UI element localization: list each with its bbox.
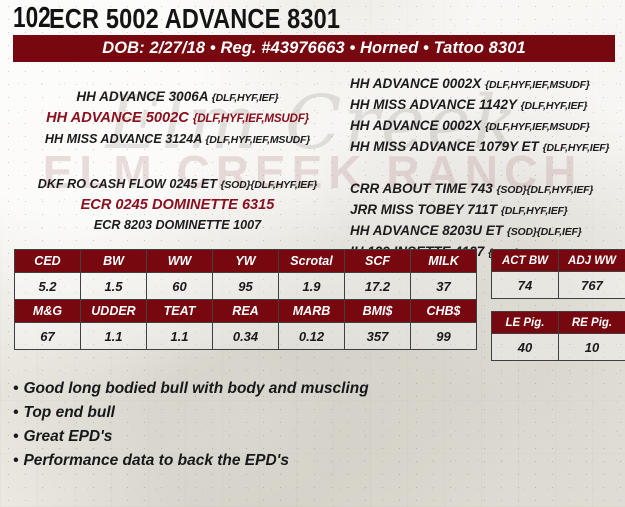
maternal-great-grandparents: CRR ABOUT TIME 743 {SOD}{DLF,HYF,IEF} JR… bbox=[350, 158, 625, 263]
list-item-label: Top end bull bbox=[23, 404, 115, 421]
bullet-marker-icon: • bbox=[13, 425, 18, 449]
ancestor-name: HH ADVANCE 0002X bbox=[350, 76, 481, 91]
bullet-marker-icon: • bbox=[13, 449, 18, 473]
epd-header-cell: CED bbox=[15, 250, 81, 273]
pedigree-ancestor-line: HH ADVANCE 0002X {DLF,HYF,IEF,MSUDF} bbox=[350, 116, 625, 137]
ancestor-tag: {DLF,HYF,IEF} bbox=[501, 205, 568, 217]
list-item: •Top end bull bbox=[13, 401, 625, 425]
paternal-granddam-tag: {DLF,HYF,IEF,MSUDF} bbox=[205, 134, 310, 146]
paternal-granddam: HH MISS ADVANCE 3124A {DLF,HYF,IEF,MSUDF… bbox=[8, 129, 347, 150]
ancestor-name: HH MISS ADVANCE 1079Y ET bbox=[350, 139, 539, 154]
epd-header-cell: REA bbox=[213, 300, 279, 323]
paternal-grandsire-name: HH ADVANCE 3006A bbox=[76, 89, 208, 104]
pigment-header-cell: RE Pig. bbox=[559, 312, 625, 334]
epd-header-cell: Scrotal bbox=[279, 250, 345, 273]
ancestor-tag: {DLF,HYF,IEF} bbox=[543, 142, 610, 154]
epd-value-cell: 0.34 bbox=[213, 323, 279, 350]
table-row: 40 10 bbox=[492, 334, 625, 361]
list-item: •Good long bodied bull with body and mus… bbox=[13, 377, 625, 401]
sire-tag: {DLF,HYF,IEF,MSUDF} bbox=[193, 112, 309, 125]
pedigree-ancestor-line: HH MISS ADVANCE 1142Y {DLF,HYF,IEF} bbox=[350, 95, 625, 116]
epd-header-cell: SCF bbox=[345, 250, 411, 273]
dam-name: ECR 0245 DOMINETTE 6315 bbox=[81, 197, 275, 213]
pigment-value-cell: 10 bbox=[559, 334, 625, 361]
pedigree-column-grandparents: HH ADVANCE 0002X {DLF,HYF,IEF,MSUDF} HH … bbox=[347, 70, 625, 248]
ancestor-tag: {DLF,HYF,IEF,MSUDF} bbox=[485, 121, 590, 133]
sale-catalog-page: Elm Creek ELM CREEK RANCH 102 ECR 5002 A… bbox=[0, 0, 625, 507]
list-item-label: Performance data to back the EPD's bbox=[23, 452, 289, 469]
maternal-grandsire-name: DKF RO CASH FLOW 0245 ET bbox=[38, 177, 217, 191]
epd-header-cell: MARB bbox=[279, 300, 345, 323]
actual-value-cell: 767 bbox=[559, 272, 625, 299]
epd-value-cell: 0.12 bbox=[279, 323, 345, 350]
side-tables-group: ACT BW ADJ WW 74 767 LE Pig. RE Pig. bbox=[491, 249, 625, 361]
maternal-granddam: ECR 8203 DOMINETTE 1007 bbox=[8, 215, 347, 235]
pedigree-ancestor-line: JRR MISS TOBEY 711T {DLF,HYF,IEF} bbox=[350, 200, 625, 221]
epd-header-cell: WW bbox=[147, 250, 213, 273]
actual-measurements-table: ACT BW ADJ WW 74 767 bbox=[491, 249, 625, 299]
paternal-grandsire-tag: {DLF,HYF,IEF} bbox=[212, 92, 279, 104]
description-bullet-list: •Good long bodied bull with body and mus… bbox=[0, 377, 625, 473]
epd-header-cell: CHB$ bbox=[411, 300, 477, 323]
list-item-label: Great EPD's bbox=[23, 428, 112, 445]
ancestor-name: HH ADVANCE 0002X bbox=[350, 118, 481, 133]
pedigree-ancestor-line: HH ADVANCE 0002X {DLF,HYF,IEF,MSUDF} bbox=[350, 74, 625, 95]
ancestor-name: JRR MISS TOBEY 711T bbox=[350, 202, 497, 217]
epd-value-cell: 60 bbox=[147, 273, 213, 300]
epd-value-cell: 1.9 bbox=[279, 273, 345, 300]
dam: ECR 0245 DOMINETTE 6315 bbox=[8, 195, 347, 215]
epd-value-cell: 1.1 bbox=[81, 323, 147, 350]
pedigree-ancestor-line: HH MISS ADVANCE 1079Y ET {DLF,HYF,IEF} bbox=[350, 137, 625, 158]
maternal-grandsire-tag: {SOD}{DLF,HYF,IEF} bbox=[220, 179, 317, 191]
epd-header-cell: BW bbox=[81, 250, 147, 273]
ancestor-name: HH ADVANCE 8203U ET bbox=[350, 223, 503, 238]
registration-details: DOB: 2/27/18 • Reg. #43976663 • Horned •… bbox=[102, 39, 526, 58]
epd-value-cell: 37 bbox=[411, 273, 477, 300]
data-tables-section: CED BW WW YW Scrotal SCF MILK 5.2 1.5 60… bbox=[0, 249, 625, 361]
table-row: M&G UDDER TEAT REA MARB BMI$ CHB$ bbox=[15, 300, 477, 323]
pigment-table: LE Pig. RE Pig. 40 10 bbox=[491, 311, 625, 361]
table-row: LE Pig. RE Pig. bbox=[492, 312, 625, 334]
table-row: 74 767 bbox=[492, 272, 625, 299]
paternal-grandsire: HH ADVANCE 3006A {DLF,HYF,IEF} bbox=[8, 87, 347, 108]
pigment-header-cell: LE Pig. bbox=[492, 312, 559, 334]
table-row: 67 1.1 1.1 0.34 0.12 357 99 bbox=[15, 323, 477, 350]
ancestor-name: HH MISS ADVANCE 1142Y bbox=[350, 97, 517, 112]
ancestor-tag: {DLF,HYF,IEF} bbox=[521, 100, 588, 112]
sire-name: HH ADVANCE 5002C bbox=[46, 110, 189, 126]
epd-header-cell: M&G bbox=[15, 300, 81, 323]
paternal-great-grandparents: HH ADVANCE 0002X {DLF,HYF,IEF,MSUDF} HH … bbox=[350, 70, 625, 158]
ancestor-name: CRR ABOUT TIME 743 bbox=[350, 181, 493, 196]
lot-number: 102 bbox=[13, 4, 51, 33]
sire: HH ADVANCE 5002C {DLF,HYF,IEF,MSUDF} bbox=[8, 108, 347, 129]
ancestor-tag: {DLF,HYF,IEF,MSUDF} bbox=[485, 79, 590, 91]
pedigree-chart: HH ADVANCE 3006A {DLF,HYF,IEF} HH ADVANC… bbox=[0, 70, 625, 248]
dam-block: DKF RO CASH FLOW 0245 ET {SOD}{DLF,HYF,I… bbox=[8, 150, 347, 235]
paternal-granddam-name: HH MISS ADVANCE 3124A bbox=[45, 132, 202, 146]
table-spacer bbox=[491, 299, 625, 311]
epd-header-cell: BMI$ bbox=[345, 300, 411, 323]
list-item-label: Good long bodied bull with body and musc… bbox=[23, 380, 368, 397]
bullet-marker-icon: • bbox=[13, 401, 18, 425]
registration-banner: DOB: 2/27/18 • Reg. #43976663 • Horned •… bbox=[13, 35, 615, 62]
ancestor-tag: {SOD}{DLF,IEF} bbox=[507, 226, 582, 238]
maternal-granddam-name: ECR 8203 DOMINETTE 1007 bbox=[94, 218, 261, 232]
epd-header-cell: UDDER bbox=[81, 300, 147, 323]
page-header: 102 ECR 5002 ADVANCE 8301 bbox=[0, 0, 625, 33]
epd-value-cell: 357 bbox=[345, 323, 411, 350]
list-item: •Great EPD's bbox=[13, 425, 625, 449]
epd-header-cell: MILK bbox=[411, 250, 477, 273]
epd-value-cell: 99 bbox=[411, 323, 477, 350]
actual-value-cell: 74 bbox=[492, 272, 559, 299]
actual-header-cell: ACT BW bbox=[492, 250, 559, 272]
epd-value-cell: 5.2 bbox=[15, 273, 81, 300]
epd-value-cell: 17.2 bbox=[345, 273, 411, 300]
pedigree-ancestor-line: CRR ABOUT TIME 743 {SOD}{DLF,HYF,IEF} bbox=[350, 179, 625, 200]
table-row: 5.2 1.5 60 95 1.9 17.2 37 bbox=[15, 273, 477, 300]
epd-value-cell: 1.5 bbox=[81, 273, 147, 300]
epd-value-cell: 1.1 bbox=[147, 323, 213, 350]
maternal-grandsire: DKF RO CASH FLOW 0245 ET {SOD}{DLF,HYF,I… bbox=[8, 174, 347, 195]
ancestor-tag: {SOD}{DLF,HYF,IEF} bbox=[497, 184, 594, 196]
sire-block: HH ADVANCE 3006A {DLF,HYF,IEF} HH ADVANC… bbox=[8, 70, 347, 150]
epd-value-cell: 67 bbox=[15, 323, 81, 350]
table-row: ACT BW ADJ WW bbox=[492, 250, 625, 272]
actual-header-cell: ADJ WW bbox=[559, 250, 625, 272]
bullet-marker-icon: • bbox=[13, 377, 18, 401]
pedigree-ancestor-line: HH ADVANCE 8203U ET {SOD}{DLF,IEF} bbox=[350, 221, 625, 242]
table-row: CED BW WW YW Scrotal SCF MILK bbox=[15, 250, 477, 273]
pigment-value-cell: 40 bbox=[492, 334, 559, 361]
epd-header-cell: TEAT bbox=[147, 300, 213, 323]
page-title: ECR 5002 ADVANCE 8301 bbox=[49, 4, 340, 33]
list-item: •Performance data to back the EPD's bbox=[13, 449, 625, 473]
pedigree-column-parents: HH ADVANCE 3006A {DLF,HYF,IEF} HH ADVANC… bbox=[0, 70, 347, 248]
epd-value-cell: 95 bbox=[213, 273, 279, 300]
epd-header-cell: YW bbox=[213, 250, 279, 273]
epd-table: CED BW WW YW Scrotal SCF MILK 5.2 1.5 60… bbox=[14, 249, 477, 350]
